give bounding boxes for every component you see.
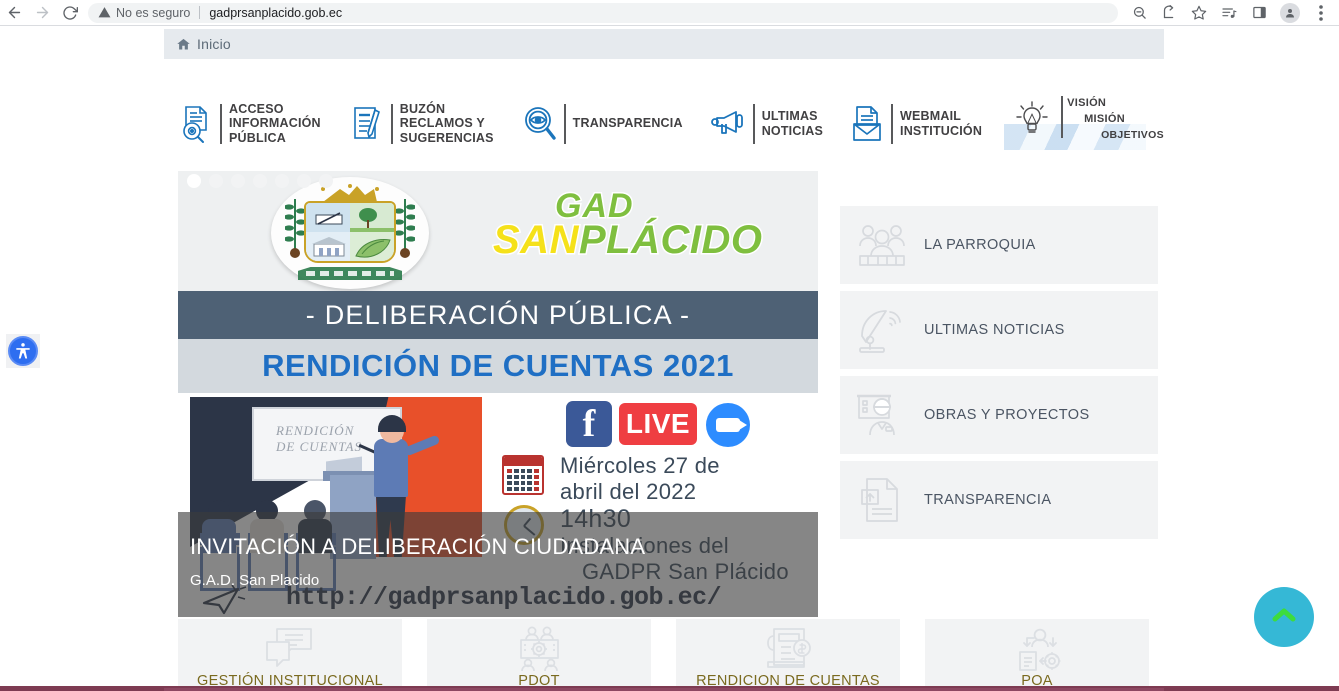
address-bar[interactable]: No es seguro gadprsanplacido.gob.ec — [88, 3, 1118, 23]
divider — [564, 104, 566, 144]
tile-poa[interactable]: POA — [925, 619, 1149, 691]
home-icon — [176, 37, 191, 52]
banner-header-area: GAD SAN PLÁCIDO — [178, 171, 818, 291]
shield-quadrant-building — [306, 232, 350, 261]
carousel-caption: INVITACIÓN A DELIBERACIÓN CIUDADANA G.A.… — [178, 512, 818, 617]
sidebar-item-la-parroquia[interactable]: LA PARROQUIA — [840, 206, 1158, 284]
quick-access-item-ultimas-noticias[interactable]: ULTIMAS NOTICIAS — [709, 94, 823, 154]
satellite-dish-icon — [840, 306, 924, 354]
hero-carousel[interactable]: GAD SAN PLÁCIDO - DELIBERACIÓN PÚBLICA -… — [178, 171, 818, 617]
quick-access-label: ACCESO INFORMACIÓN PÚBLICA — [229, 102, 321, 146]
accessibility-widget-button[interactable] — [6, 334, 40, 368]
document-upload-icon — [840, 476, 924, 524]
caption-subtitle: G.A.D. San Placido — [190, 572, 818, 589]
tile-gestion-institucional[interactable]: GESTIÓN INSTITUCIONAL — [178, 619, 402, 691]
sidebar-card-list: LA PARROQUIA ULTIMAS NOTICIAS — [840, 206, 1158, 546]
divider — [1061, 96, 1063, 138]
caption-title: INVITACIÓN A DELIBERACIÓN CIUDADANA — [190, 534, 818, 560]
receipt-money-icon — [762, 625, 814, 673]
quick-access-label: TRANSPARENCIA — [573, 116, 683, 131]
sidebar-item-ultimas-noticias[interactable]: ULTIMAS NOTICIAS — [840, 291, 1158, 369]
quick-access-label: BUZÓN RECLAMOS Y SUGERENCIAS — [400, 102, 494, 146]
vision-label: VISIÓN — [1067, 97, 1106, 109]
sidebar-item-label: OBRAS Y PROYECTOS — [924, 407, 1090, 423]
profile-avatar-icon[interactable] — [1280, 3, 1300, 23]
calendar-header — [504, 457, 542, 466]
sidebar-item-label: TRANSPARENCIA — [924, 492, 1051, 508]
carousel-dot[interactable] — [231, 174, 245, 188]
tile-rendicion-de-cuentas[interactable]: RENDICION DE CUENTAS — [676, 619, 900, 691]
coat-of-arms — [271, 177, 429, 289]
document-search-icon — [176, 102, 216, 146]
facebook-f-glyph: f — [583, 404, 596, 444]
laurel-branch-left-icon — [285, 197, 305, 261]
breadcrumb[interactable]: Inicio — [164, 29, 1164, 59]
reload-icon[interactable] — [56, 0, 84, 26]
zoom-camera-icon — [706, 403, 750, 447]
objetivos-label: OBJETIVOS — [1101, 129, 1164, 141]
gad-san-placido-wordmark: GAD SAN PLÁCIDO — [493, 189, 762, 261]
facebook-icon: f — [566, 401, 612, 447]
carousel-dots[interactable] — [187, 174, 333, 188]
content-column: Inicio ACCESO I — [164, 26, 1164, 691]
rendicion-band: RENDICIÓN DE CUENTAS 2021 — [178, 339, 818, 393]
quick-access-bar: ACCESO INFORMACIÓN PÚBLICA BUZÓN RECL — [164, 86, 1164, 161]
not-secure-warning-icon — [98, 6, 111, 19]
crest-motto-banner — [298, 267, 402, 280]
sidebar-item-label: ULTIMAS NOTICIAS — [924, 322, 1065, 338]
shield-quadrant-tree — [350, 203, 394, 232]
mail-document-icon — [847, 102, 887, 146]
sidebar-item-label: LA PARROQUIA — [924, 237, 1036, 253]
bookmark-star-icon[interactable] — [1184, 0, 1214, 26]
meeting-gear-icon — [513, 625, 565, 673]
wordmark-san: SAN — [493, 219, 579, 261]
three-dot-menu-icon[interactable] — [1306, 0, 1336, 26]
divider — [891, 104, 893, 144]
mision-label: MISIÓN — [1084, 113, 1125, 125]
screen-text-line1: RENDICIÓN — [276, 423, 354, 439]
carousel-dot[interactable] — [275, 174, 289, 188]
quick-access-item-acceso-informacion-publica[interactable]: ACCESO INFORMACIÓN PÚBLICA — [176, 94, 321, 154]
shield-quadrants — [304, 201, 396, 263]
calendar-icon — [502, 455, 544, 495]
tile-pdot[interactable]: PDOT — [427, 619, 651, 691]
document-pen-icon — [347, 102, 387, 146]
live-label: LIVE — [626, 408, 690, 440]
forward-arrow-icon[interactable] — [28, 0, 56, 26]
rendicion-text: RENDICIÓN DE CUENTAS 2021 — [262, 348, 734, 384]
quick-access-item-transparencia[interactable]: TRANSPARENCIA — [520, 94, 683, 154]
carousel-dot[interactable] — [319, 174, 333, 188]
wordmark-row: SAN PLÁCIDO — [493, 219, 762, 261]
engineer-worker-icon — [840, 392, 924, 438]
wordmark-placido: PLÁCIDO — [579, 219, 763, 261]
reading-list-icon[interactable] — [1214, 0, 1244, 26]
carousel-dot[interactable] — [297, 174, 311, 188]
url-text[interactable]: gadprsanplacido.gob.ec — [209, 6, 342, 20]
toolbar-actions — [1124, 0, 1339, 26]
camera-glyph — [716, 418, 740, 432]
divider — [220, 104, 222, 144]
laurel-branch-right-icon — [395, 197, 415, 261]
quick-access-item-vision-mision-objetivos[interactable]: VISIÓN MISIÓN OBJETIVOS — [1004, 94, 1149, 154]
scroll-to-top-button[interactable] — [1254, 587, 1314, 647]
side-panel-icon[interactable] — [1244, 0, 1274, 26]
shield-quadrant-crop — [350, 232, 394, 261]
quick-access-item-webmail[interactable]: WEBMAIL INSTITUCIÓN — [847, 94, 982, 154]
chevron-up-icon — [1271, 605, 1297, 630]
calendar-grid — [507, 469, 539, 491]
chat-bubbles-icon — [263, 625, 317, 673]
deliberation-text: - DELIBERACIÓN PÚBLICA - — [306, 300, 690, 331]
people-group-icon — [840, 222, 924, 268]
megaphone-icon — [709, 102, 749, 146]
share-icon[interactable] — [1154, 0, 1184, 26]
lightbulb-idea-icon — [1010, 98, 1054, 147]
zoom-out-icon[interactable] — [1124, 0, 1154, 26]
workflow-person-gear-icon — [1010, 625, 1064, 673]
omnibox-divider — [199, 6, 200, 19]
screen-text-line2: DE CUENTAS — [276, 439, 362, 455]
quick-access-item-buzon-reclamos[interactable]: BUZÓN RECLAMOS Y SUGERENCIAS — [347, 94, 494, 154]
event-date-line2: abril del 2022 — [560, 479, 696, 505]
carousel-dot[interactable] — [209, 174, 223, 188]
divider — [391, 104, 393, 144]
service-tile-row: GESTIÓN INSTITUCIONAL — [178, 619, 1150, 691]
carousel-dot[interactable] — [187, 174, 201, 188]
back-arrow-icon[interactable] — [0, 0, 28, 26]
security-status-label: No es seguro — [116, 6, 190, 20]
page-viewport: Inicio ACCESO I — [0, 26, 1339, 691]
breadcrumb-label: Inicio — [197, 36, 231, 52]
sidebar-item-transparencia[interactable]: TRANSPARENCIA — [840, 461, 1158, 539]
shield-quadrant-book — [306, 203, 350, 232]
accessibility-person-icon — [8, 336, 38, 366]
eye-magnifier-icon — [520, 102, 560, 146]
carousel-dot[interactable] — [253, 174, 267, 188]
illustration-speaker-body — [374, 439, 408, 497]
divider — [753, 104, 755, 144]
sidebar-item-obras-y-proyectos[interactable]: OBRAS Y PROYECTOS — [840, 376, 1158, 454]
event-date-line1: Miércoles 27 de — [560, 453, 720, 479]
live-badge: LIVE — [619, 403, 697, 445]
browser-toolbar: No es seguro gadprsanplacido.gob.ec — [0, 0, 1339, 26]
quick-access-label: WEBMAIL INSTITUCIÓN — [900, 109, 982, 138]
quick-access-label: ULTIMAS NOTICIAS — [762, 109, 823, 138]
deliberation-bar: - DELIBERACIÓN PÚBLICA - — [178, 291, 818, 339]
